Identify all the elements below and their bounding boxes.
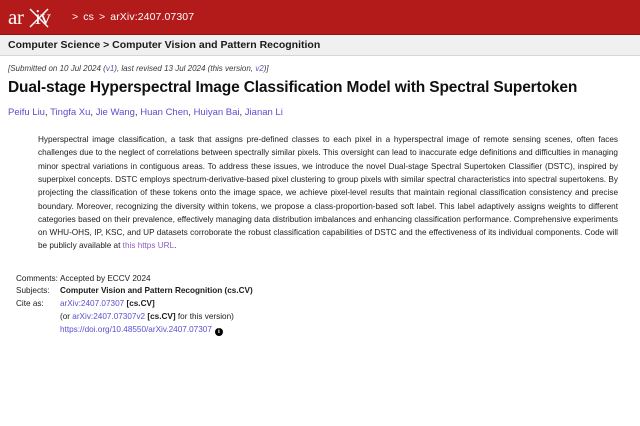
abstract-text: Hyperspectral image classification, a ta… <box>38 133 618 253</box>
cite-version-category: [cs.CV] <box>147 312 175 321</box>
version-v2-link[interactable]: v2 <box>255 64 263 73</box>
cite-as-label: Cite as: <box>8 298 60 311</box>
author-link[interactable]: Jie Wang <box>96 107 135 118</box>
metadata-row-subjects: Subjects: Computer Vision and Pattern Re… <box>8 285 632 298</box>
breadcrumb-separator-2: > <box>97 11 107 23</box>
cite-version-suffix: for this version) <box>176 312 234 321</box>
author-link[interactable]: Jianan Li <box>245 107 283 118</box>
breadcrumb-separator-1: > <box>70 11 80 23</box>
author-link[interactable]: Huiyan Bai <box>194 107 240 118</box>
cite-version-link[interactable]: arXiv:2407.07307v2 <box>72 312 145 321</box>
doi-row: https://doi.org/10.48550/arXiv.2407.0730… <box>60 324 632 337</box>
metadata-row-cite-as: Cite as: arXiv:2407.07307 [cs.CV] (or ar… <box>8 298 632 336</box>
author-list: Peifu Liu, Tingfa Xu, Jie Wang, Huan Che… <box>8 107 632 119</box>
abstract-code-link[interactable]: this https URL <box>123 241 174 250</box>
comments-label: Comments: <box>8 273 60 286</box>
cite-arxiv-id-link[interactable]: arXiv:2407.07307 <box>60 299 124 308</box>
subjects-label: Subjects: <box>8 285 60 298</box>
svg-text:ar: ar <box>8 6 24 28</box>
dateline-suffix: )] <box>264 64 269 73</box>
author-link[interactable]: Tingfa Xu <box>50 107 90 118</box>
cite-as-primary: arXiv:2407.07307 [cs.CV] <box>60 298 632 311</box>
dateline-middle: ), last revised 13 Jul 2024 (this versio… <box>114 64 255 73</box>
abstract-body: Hyperspectral image classification, a ta… <box>38 135 618 250</box>
doi-link[interactable]: https://doi.org/10.48550/arXiv.2407.0730… <box>60 325 212 334</box>
cite-category: [cs.CV] <box>126 299 154 308</box>
subject-band: Computer Science > Computer Vision and P… <box>0 34 640 56</box>
page-title: Dual-stage Hyperspectral Image Classific… <box>8 79 632 97</box>
submission-history: [Submitted on 10 Jul 2024 (v1), last rev… <box>8 64 632 73</box>
cite-as-value: arXiv:2407.07307 [cs.CV] (or arXiv:2407.… <box>60 298 632 336</box>
author-link[interactable]: Huan Chen <box>140 107 188 118</box>
cite-version-prefix: (or <box>60 312 72 321</box>
breadcrumb-link-identifier[interactable]: arXiv:2407.07307 <box>110 11 194 23</box>
arxiv-logo[interactable]: ar iv <box>8 6 64 28</box>
paper-metadata: Comments: Accepted by ECCV 2024 Subjects… <box>8 273 632 337</box>
breadcrumb: > cs > arXiv:2407.07307 <box>70 12 194 23</box>
subjects-value: Computer Vision and Pattern Recognition … <box>60 285 632 298</box>
abstract-trailing-period: . <box>174 241 176 250</box>
breadcrumb-link-cs[interactable]: cs <box>83 11 94 23</box>
cite-as-version: (or arXiv:2407.07307v2 [cs.CV] for this … <box>60 311 632 324</box>
comments-value: Accepted by ECCV 2024 <box>60 273 632 286</box>
info-icon[interactable]: i <box>215 328 223 336</box>
dateline-prefix: [Submitted on 10 Jul 2024 ( <box>8 64 106 73</box>
metadata-row-comments: Comments: Accepted by ECCV 2024 <box>8 273 632 286</box>
paper-content: [Submitted on 10 Jul 2024 (v1), last rev… <box>0 56 640 336</box>
site-header: ar iv > cs > arXiv:2407.07307 <box>0 0 640 34</box>
author-link[interactable]: Peifu Liu <box>8 107 45 118</box>
